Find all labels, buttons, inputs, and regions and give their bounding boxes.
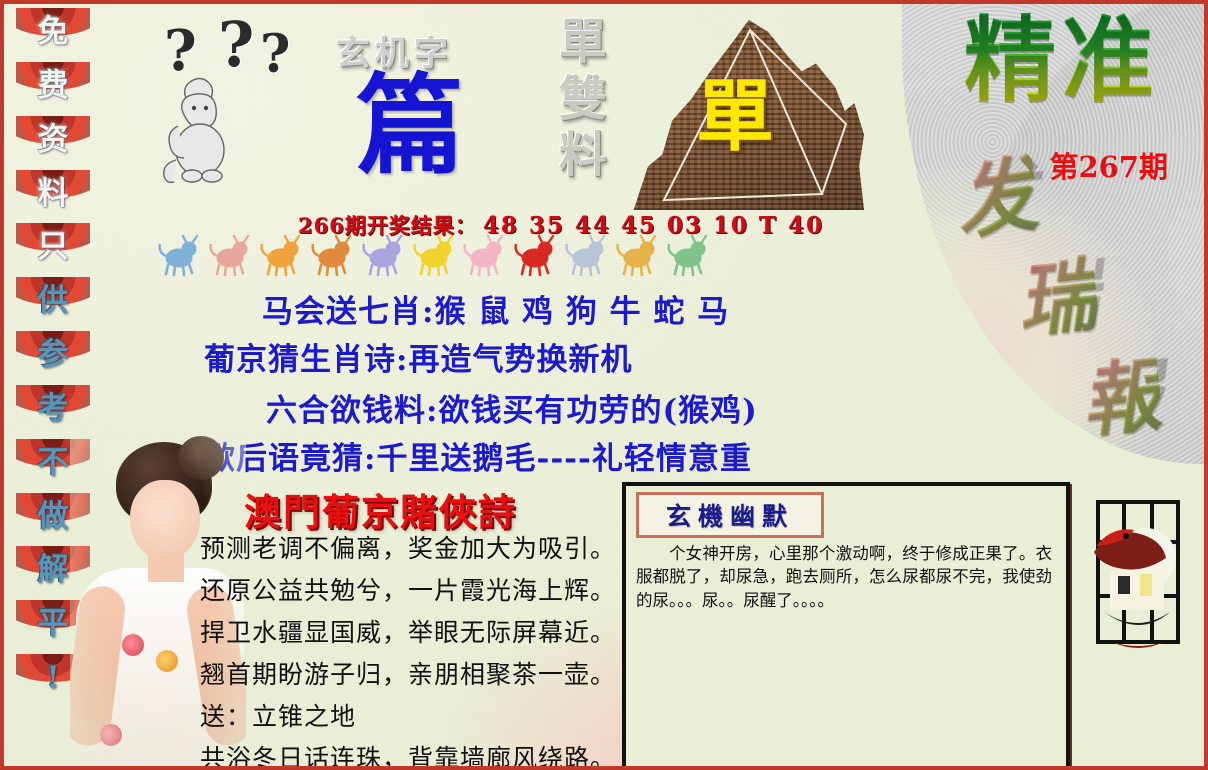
question-mark-3: ? bbox=[260, 24, 296, 85]
zodiac-tiger-icon bbox=[258, 234, 304, 278]
tip-value-4: 千里送鹅毛----礼轻情意重 bbox=[376, 441, 751, 477]
zodiac-horse-icon bbox=[461, 234, 507, 278]
tip-label-1: 马会送七肖: bbox=[262, 294, 434, 330]
cursive-char-2: 瑞 bbox=[1010, 230, 1102, 354]
zodiac-rabbit-icon bbox=[309, 234, 355, 278]
poem-title: 澳門葡京賭俠詩 bbox=[244, 482, 517, 536]
fan-char: 参 bbox=[16, 340, 90, 371]
poem-line: 送：立锥之地 bbox=[200, 698, 620, 735]
humour-box: 玄機幽默 个女神开房，心里那个激动啊，终于修成正果了。衣服都脱了，却尿急，跑去厕… bbox=[622, 482, 1070, 770]
tip-value-3: 欲钱买有功劳的(猴鸡) bbox=[438, 393, 757, 429]
fan-char: 费 bbox=[16, 71, 90, 102]
fan-char: 免 bbox=[16, 17, 90, 48]
tip-value-1: 猴 鼠 鸡 狗 牛 蛇 马 bbox=[434, 294, 729, 330]
fan-char: 供 bbox=[16, 286, 90, 317]
odd-even-label: 單雙料 bbox=[552, 14, 614, 184]
humour-paragraph: 个女神开房，心里那个激动啊，终于修成正果了。衣服都脱了，却尿急，跑去厕所，怎么尿… bbox=[636, 542, 1052, 612]
poem-line: 翘首期盼游子归，亲朋相聚茶一壶。 bbox=[200, 656, 620, 693]
zodiac-snake-icon bbox=[411, 234, 457, 278]
poem-body: 预测老调不偏离，奖金加大为吸引。还原公益共勉兮，一片霞光海上辉。捍卫水疆显国威，… bbox=[200, 530, 620, 770]
zodiac-dog-icon bbox=[665, 234, 711, 278]
tip-line-2: 葡京猜生肖诗:再造气势换新机 bbox=[204, 334, 632, 379]
zodiac-rat-icon bbox=[156, 234, 202, 278]
humour-body: 个女神开房，心里那个激动啊，终于修成正果了。衣服都脱了，却尿急，跑去厕所，怎么尿… bbox=[636, 542, 1052, 612]
tip-line-1: 马会送七肖:猴 鼠 鸡 狗 牛 蛇 马 bbox=[262, 286, 729, 331]
fan-char: 料 bbox=[16, 179, 90, 210]
issue-number: 第267期 bbox=[1049, 144, 1168, 186]
zodiac-icon-row bbox=[156, 232, 716, 280]
tip-line-4: 歇后语竟猜:千里送鹅毛----礼轻情意重 bbox=[204, 433, 752, 478]
zodiac-monkey-icon bbox=[563, 234, 609, 278]
poster-root: 精准 第267期 发 瑞 報 免费资料只供参考不做解平! ? ? ? 玄机字 篇… bbox=[0, 0, 1208, 770]
tip-line-3: 六合欲钱料:欲钱买有功劳的(猴鸡) bbox=[266, 385, 758, 430]
masthead-title: 精准 bbox=[964, 12, 1160, 109]
poem-line: 捍卫水疆显国威，举眼无际屏幕近。 bbox=[200, 614, 620, 651]
poem-line: 预测老调不偏离，奖金加大为吸引。 bbox=[200, 530, 620, 567]
column-char: 篇 bbox=[356, 72, 464, 180]
fan-char: 只 bbox=[16, 232, 90, 263]
tip-value-2: 再造气势换新机 bbox=[408, 342, 632, 378]
humour-header: 玄機幽默 bbox=[636, 492, 824, 538]
zodiac-dragon-icon bbox=[360, 234, 406, 278]
zodiac-goat-icon bbox=[512, 234, 558, 278]
poem-line: 共浴冬日话连珠，背靠墙廊风绕路。 bbox=[200, 740, 620, 770]
tip-label-3: 六合欲钱料: bbox=[266, 393, 438, 429]
bird-lattice-icon bbox=[1090, 496, 1186, 656]
fan-char: 考 bbox=[16, 394, 90, 425]
humour-header-text: 玄機幽默 bbox=[666, 497, 794, 533]
poem-line: 还原公益共勉兮，一片霞光海上辉。 bbox=[200, 572, 620, 609]
tip-label-2: 葡京猜生肖诗: bbox=[204, 342, 408, 378]
zodiac-ox-icon bbox=[207, 234, 253, 278]
pyramid-char: 單 bbox=[696, 78, 774, 156]
cursive-char-3: 報 bbox=[1074, 330, 1166, 454]
fan-char: 资 bbox=[16, 125, 90, 156]
thinking-cat-icon bbox=[156, 64, 248, 184]
zodiac-rooster-icon bbox=[614, 234, 660, 278]
odd-even-label-text: 單雙料 bbox=[559, 14, 607, 183]
